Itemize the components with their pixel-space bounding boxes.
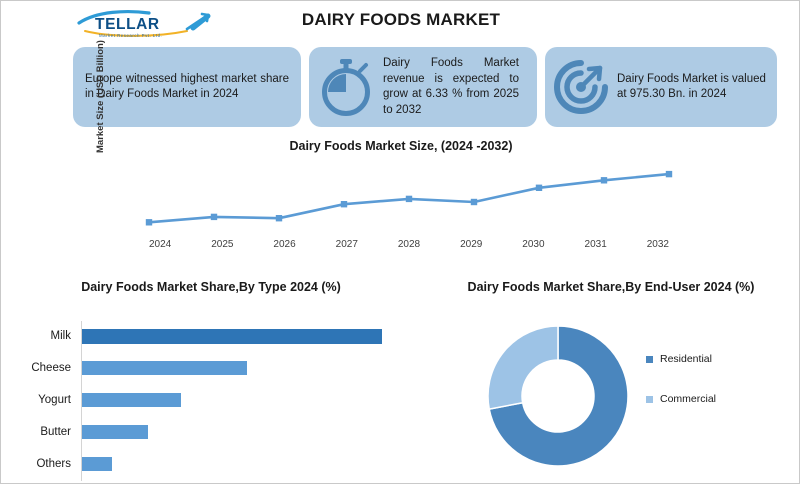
line-chart-point bbox=[471, 199, 477, 205]
line-chart-x-tick: 2030 bbox=[502, 239, 564, 259]
highlight-box-region-text: Europe witnessed highest market share in… bbox=[73, 72, 301, 103]
line-chart-point bbox=[276, 215, 282, 221]
donut-legend-swatch bbox=[646, 356, 653, 363]
line-chart-x-tick: 2028 bbox=[378, 239, 440, 259]
donut-legend-item: Residential bbox=[646, 353, 796, 365]
page-title: DAIRY FOODS MARKET bbox=[1, 10, 800, 30]
highlight-box-value-text: Dairy Foods Market is valued at 975.30 B… bbox=[617, 72, 767, 103]
highlight-boxes: Europe witnessed highest market share in… bbox=[1, 47, 800, 131]
bar-chart-row: Butter bbox=[1, 417, 421, 447]
market-size-line-chart: Dairy Foods Market Size, (2024 -2032) 20… bbox=[1, 135, 800, 273]
line-chart-x-tick: 2026 bbox=[253, 239, 315, 259]
line-chart-point bbox=[666, 171, 672, 177]
bar-chart-title: Dairy Foods Market Share,By Type 2024 (%… bbox=[1, 277, 421, 296]
line-chart-point bbox=[341, 201, 347, 207]
stopwatch-icon bbox=[309, 58, 383, 116]
donut-legend-swatch bbox=[646, 396, 653, 403]
highlight-box-cagr-text: Dairy Foods Market revenue is expected t… bbox=[383, 56, 519, 118]
target-icon bbox=[545, 59, 617, 115]
market-share-by-type-chart: Dairy Foods Market Share,By Type 2024 (%… bbox=[1, 277, 421, 485]
line-chart-point bbox=[536, 185, 542, 191]
bar-chart-track bbox=[81, 385, 421, 415]
donut-chart-plot bbox=[483, 321, 633, 471]
line-chart-x-tick: 2032 bbox=[627, 239, 689, 259]
line-chart-point bbox=[211, 214, 217, 220]
line-chart-plot bbox=[129, 159, 689, 237]
donut-chart-slice bbox=[488, 326, 558, 409]
donut-chart-legend: ResidentialCommercial bbox=[646, 353, 796, 433]
line-chart-point bbox=[146, 219, 152, 225]
line-chart-x-tick: 2025 bbox=[191, 239, 253, 259]
market-share-by-end-user-chart: Dairy Foods Market Share,By End-User 202… bbox=[421, 277, 800, 485]
bar-chart-bar bbox=[82, 329, 382, 344]
line-chart-x-tick: 2027 bbox=[316, 239, 378, 259]
bar-chart-category-label: Butter bbox=[1, 426, 81, 438]
line-chart-x-axis: 202420252026202720282029203020312032 bbox=[129, 239, 689, 259]
highlight-box-value: Dairy Foods Market is valued at 975.30 B… bbox=[545, 47, 777, 127]
bar-chart-category-label: Yogurt bbox=[1, 394, 81, 406]
bar-chart-bar bbox=[82, 393, 181, 407]
infographic-page: TELLAR Market Research Pvt. Ltd. DAIRY F… bbox=[0, 0, 800, 484]
svg-text:Market Research Pvt. Ltd.: Market Research Pvt. Ltd. bbox=[99, 33, 162, 38]
bar-chart-row: Others bbox=[1, 449, 421, 479]
line-chart-point bbox=[406, 196, 412, 202]
bar-chart-track bbox=[81, 449, 421, 479]
line-chart-y-axis-label: Market Size (USD Billion) bbox=[95, 137, 106, 153]
bar-chart-row: Yogurt bbox=[1, 385, 421, 415]
page-header: TELLAR Market Research Pvt. Ltd. DAIRY F… bbox=[1, 1, 799, 43]
bar-chart-bar bbox=[82, 361, 247, 375]
bar-chart-plot: MilkCheeseYogurtButterOthers bbox=[1, 321, 421, 481]
highlight-box-region: Europe witnessed highest market share in… bbox=[73, 47, 301, 127]
bar-chart-row: Cheese bbox=[1, 353, 421, 383]
line-chart-point bbox=[601, 177, 607, 183]
bar-chart-track bbox=[81, 321, 421, 351]
line-chart-x-tick: 2031 bbox=[565, 239, 627, 259]
line-chart-x-tick: 2029 bbox=[440, 239, 502, 259]
bar-chart-row: Milk bbox=[1, 321, 421, 351]
bar-chart-category-label: Others bbox=[1, 458, 81, 470]
line-chart-title: Dairy Foods Market Size, (2024 -2032) bbox=[1, 135, 800, 153]
bar-chart-bar bbox=[82, 457, 112, 471]
bar-chart-category-label: Cheese bbox=[1, 362, 81, 374]
highlight-box-cagr: Dairy Foods Market revenue is expected t… bbox=[309, 47, 537, 127]
bar-chart-track bbox=[81, 353, 421, 383]
donut-chart-title: Dairy Foods Market Share,By End-User 202… bbox=[421, 277, 800, 296]
bar-chart-track bbox=[81, 417, 421, 447]
bar-chart-bar bbox=[82, 425, 148, 439]
line-chart-x-tick: 2024 bbox=[129, 239, 191, 259]
donut-legend-item: Commercial bbox=[646, 393, 796, 405]
donut-legend-label: Residential bbox=[660, 353, 712, 365]
bar-chart-category-label: Milk bbox=[1, 330, 81, 342]
donut-legend-label: Commercial bbox=[660, 393, 716, 405]
